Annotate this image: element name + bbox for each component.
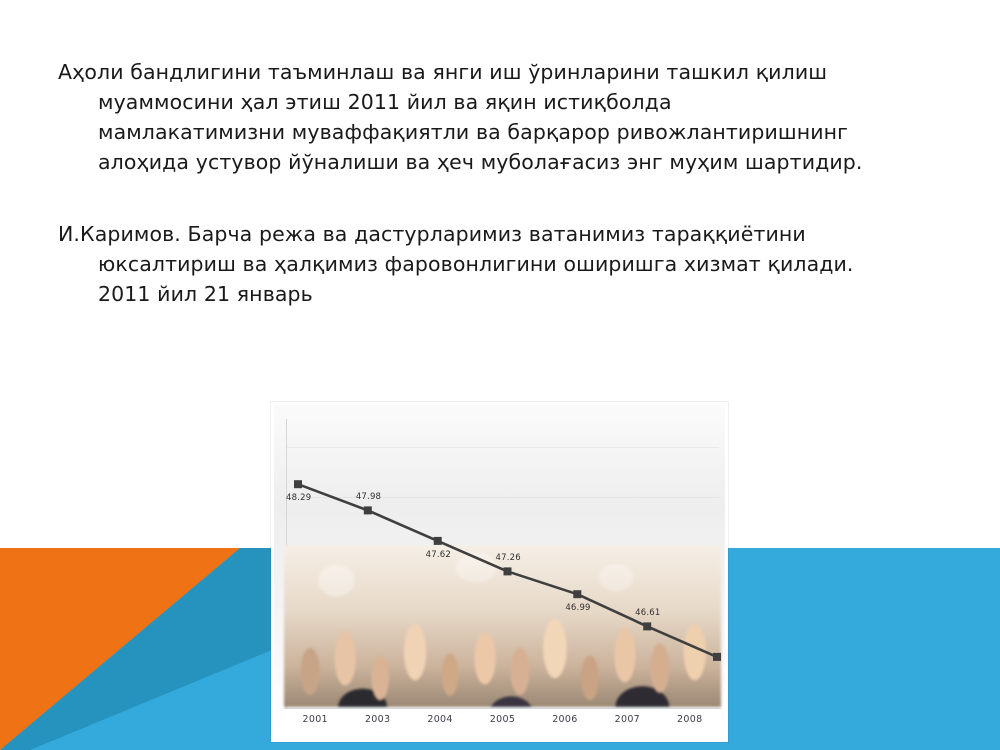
slide-text-block: Аҳоли бандлигини таъминлаш ва янги иш ўр… [58,58,948,309]
data-point-marker [713,653,721,661]
x-tick-2001: 2001 [284,709,346,731]
data-point-marker [573,590,581,598]
attribution-line-1: И.Каримов. Барча режа ва дастурларимиз в… [58,222,806,246]
data-point-marker [294,480,302,488]
data-point-marker [434,537,442,545]
x-tick-2003: 2003 [346,709,408,731]
data-point-marker [364,506,372,514]
data-point-label: 48.29 [286,493,311,503]
data-point-label: 46.99 [565,603,590,613]
x-tick-2008: 2008 [659,709,721,731]
data-point-label: 47.26 [496,553,521,563]
data-point-label: 47.62 [426,550,451,560]
quote-line-3: мамлакатимизни муваффақиятли ва барқарор… [58,118,948,148]
x-tick-2005: 2005 [471,709,533,731]
presentation-slide: Аҳоли бандлигини таъминлаш ва янги иш ўр… [0,0,1000,750]
data-point-label: 47.98 [356,492,381,502]
data-point-label: 46.61 [635,608,660,618]
x-axis-labels: 2001 2003 2004 2005 2006 2007 2008 [284,708,721,731]
quote-paragraph: Аҳоли бандлигини таъминлаш ва янги иш ўр… [58,58,948,178]
quote-line-1: Аҳоли бандлигини таъминлаш ва янги иш ўр… [58,60,827,84]
attribution-line-3: 2011 йил 21 январь [58,280,948,310]
quote-line-4: алоҳида устувор йўналиши ва ҳеч муболаға… [58,148,948,178]
data-point-marker [504,567,512,575]
line-series-svg [274,405,725,739]
chart-card[interactable]: 48.2947.9847.6247.2646.9946.61 2001 2003… [271,402,728,742]
x-tick-2006: 2006 [534,709,596,731]
x-tick-2004: 2004 [409,709,471,731]
data-point-marker [643,622,651,630]
quote-line-2: муаммосини ҳал этиш 2011 йил ва яқин ист… [58,88,948,118]
attribution-paragraph: И.Каримов. Барча режа ва дастурларимиз в… [58,220,948,310]
chart-plot-area: 48.2947.9847.6247.2646.9946.61 2001 2003… [274,405,725,739]
attribution-line-2: юксалтириш ва ҳалқимиз фаровонлигини оши… [58,250,948,280]
x-tick-2007: 2007 [596,709,658,731]
